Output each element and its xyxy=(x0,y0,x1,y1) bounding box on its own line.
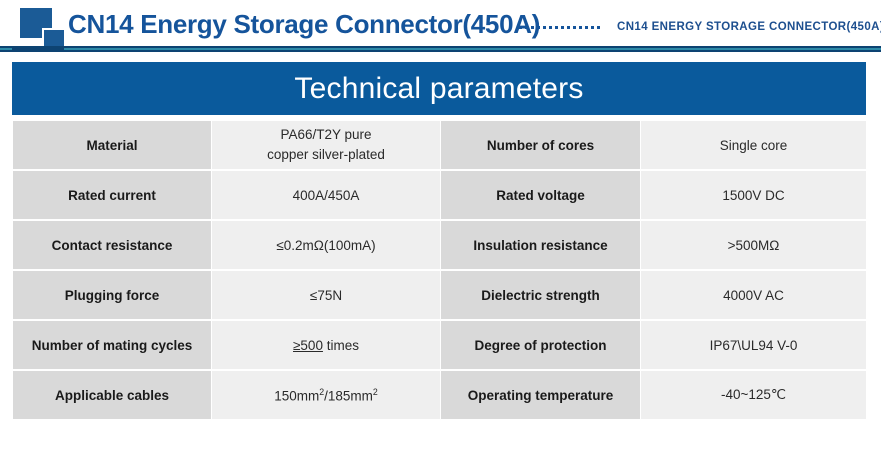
param-label-plugging-force: Plugging force xyxy=(13,271,211,319)
param-value-contact-resistance: ≤0.2mΩ(100mA) xyxy=(212,221,440,269)
company-logo-icon xyxy=(12,6,70,50)
cable-size-separator: /185mm xyxy=(324,388,373,403)
table-row: Rated current 400A/450A Rated voltage 15… xyxy=(13,171,866,219)
cable-size-b-exponent: 2 xyxy=(373,387,378,397)
param-value-mating-cycles-unit: times xyxy=(323,338,359,353)
param-value-number-of-cores: Single core xyxy=(641,121,866,169)
param-value-material: PA66/T2Y pure copper silver-plated xyxy=(212,121,440,169)
table-row: Applicable cables 150mm2/185mm2 Operatin… xyxy=(13,371,866,419)
param-value-number-of-mating-cycles: ≥500 times xyxy=(212,321,440,369)
section-banner-title: Technical parameters xyxy=(294,72,583,106)
cable-size-a: 150mm xyxy=(274,388,319,403)
param-label-applicable-cables: Applicable cables xyxy=(13,371,211,419)
param-value-insulation-resistance: >500MΩ xyxy=(641,221,866,269)
table-row: Number of mating cycles ≥500 times Degre… xyxy=(13,321,866,369)
param-label-rated-current: Rated current xyxy=(13,171,211,219)
dotted-separator-icon xyxy=(519,22,611,32)
table-row: Plugging force ≤75N Dielectric strength … xyxy=(13,271,866,319)
table-row: Contact resistance ≤0.2mΩ(100mA) Insulat… xyxy=(13,221,866,269)
technical-parameters-table: Material PA66/T2Y pure copper silver-pla… xyxy=(12,119,867,421)
param-value-plugging-force: ≤75N xyxy=(212,271,440,319)
param-label-contact-resistance: Contact resistance xyxy=(13,221,211,269)
param-label-material: Material xyxy=(13,121,211,169)
table-row: Material PA66/T2Y pure copper silver-pla… xyxy=(13,121,866,169)
param-label-dielectric-strength: Dielectric strength xyxy=(441,271,640,319)
param-value-applicable-cables: 150mm2/185mm2 xyxy=(212,371,440,419)
param-value-material-line2: copper silver-plated xyxy=(267,147,385,162)
param-value-material-line1: PA66/T2Y pure xyxy=(280,127,371,142)
param-value-dielectric-strength: 4000V AC xyxy=(641,271,866,319)
section-banner: Technical parameters xyxy=(12,62,866,115)
param-label-rated-voltage: Rated voltage xyxy=(441,171,640,219)
param-value-operating-temperature: -40~125℃ xyxy=(641,371,866,419)
param-value-mating-cycles-count: ≥500 xyxy=(293,338,323,353)
param-label-operating-temperature: Operating temperature xyxy=(441,371,640,419)
param-value-rated-voltage: 1500V DC xyxy=(641,171,866,219)
page-subtitle: CN14 ENERGY STORAGE CONNECTOR(450A) xyxy=(617,21,881,33)
page-header: CN14 Energy Storage Connector(450A) CN14… xyxy=(0,0,881,56)
param-label-number-of-cores: Number of cores xyxy=(441,121,640,169)
param-label-insulation-resistance: Insulation resistance xyxy=(441,221,640,269)
param-value-degree-of-protection: IP67\UL94 V-0 xyxy=(641,321,866,369)
divider-line-bottom xyxy=(0,50,881,52)
param-label-number-of-mating-cycles: Number of mating cycles xyxy=(13,321,211,369)
divider-accent-block xyxy=(12,46,64,52)
param-value-rated-current: 400A/450A xyxy=(212,171,440,219)
header-divider xyxy=(0,46,881,56)
param-label-degree-of-protection: Degree of protection xyxy=(441,321,640,369)
page-title: CN14 Energy Storage Connector(450A) xyxy=(68,9,540,40)
